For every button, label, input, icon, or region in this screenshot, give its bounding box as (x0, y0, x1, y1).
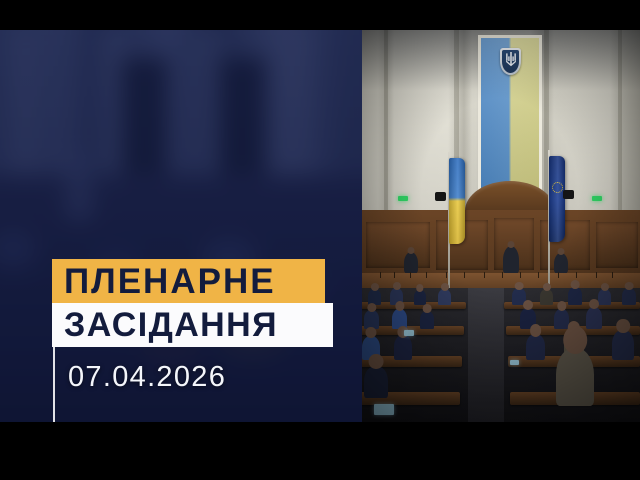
deputy (420, 311, 434, 329)
presidium-person (404, 252, 418, 274)
flag-shading (549, 156, 565, 242)
ukrainian-flag (449, 158, 465, 244)
title-band-secondary: ЗАСІДАННЯ (52, 303, 333, 347)
title-line-1: ПЛЕНАРНЕ (52, 264, 276, 299)
desk-screen (404, 330, 414, 336)
microphone-row (360, 272, 640, 278)
deputy (414, 290, 426, 305)
deputy (554, 309, 569, 329)
video-frame: ПЛЕНАРНЕ ЗАСІДАННЯ 07.04.2026 (0, 30, 640, 422)
central-aisle (468, 288, 504, 422)
rostrum-panel (596, 222, 638, 268)
presidium-speaker (503, 246, 519, 274)
ceiling-speaker (435, 192, 446, 201)
letterbox-bar-bottom (0, 422, 640, 480)
deputy (540, 289, 553, 305)
deputy-foreground (364, 366, 388, 398)
exit-sign (592, 196, 602, 201)
deputy (612, 330, 634, 360)
deputy (586, 307, 602, 329)
deputy-foreground (556, 348, 594, 406)
tryzub-icon (504, 51, 517, 67)
broadcast-date: 07.04.2026 (68, 361, 226, 394)
desk-screen (374, 404, 394, 415)
chamber-photo-sharp (360, 30, 640, 422)
deputy (526, 334, 545, 360)
ceiling-speaker (563, 190, 574, 199)
title-line-2: ЗАСІДАННЯ (52, 308, 278, 342)
seam-fade (292, 30, 362, 422)
desk-screen (510, 360, 519, 365)
letterbox-bar-top (0, 0, 640, 30)
title-band-primary: ПЛЕНАРНЕ (52, 259, 325, 303)
deputy (622, 288, 636, 305)
broadcast-title-card: ПЛЕНАРНЕ ЗАСІДАННЯ 07.04.2026 (0, 0, 640, 480)
tryzub-coat-of-arms (500, 48, 521, 75)
rostrum-panel (366, 222, 430, 268)
presidium-person (554, 253, 568, 274)
deputy (568, 287, 582, 305)
accent-vertical-rule (53, 347, 55, 422)
exit-sign (398, 196, 408, 201)
deputy (438, 289, 451, 305)
deputy (598, 289, 611, 305)
flag-shading (449, 158, 465, 244)
eu-flag (549, 156, 565, 242)
deputy (394, 335, 412, 360)
